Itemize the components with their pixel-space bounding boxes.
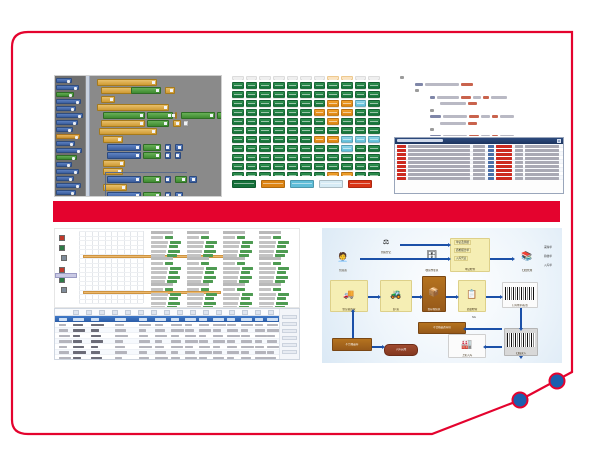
status-grid-cell[interactable] [368, 82, 380, 89]
status-grid-cell[interactable] [368, 100, 380, 107]
status-grid-cell[interactable] [287, 172, 299, 176]
status-grid-cell[interactable] [246, 91, 258, 98]
status-grid-cell[interactable] [232, 136, 244, 143]
status-grid-cell[interactable] [314, 154, 326, 161]
status-grid-column-header [287, 76, 299, 80]
status-grid-cell[interactable] [355, 154, 367, 161]
workspace-block[interactable] [103, 112, 145, 119]
status-grid-cell[interactable] [314, 172, 326, 176]
palette-block[interactable] [56, 85, 79, 90]
status-grid-cell[interactable] [232, 109, 244, 116]
status-grid-cell[interactable] [287, 118, 299, 125]
workspace-block[interactable] [107, 152, 141, 159]
status-grid-cell[interactable] [287, 91, 299, 98]
flow-arrow [486, 346, 502, 348]
inbound-truck-glyph: 🚚 [343, 290, 354, 299]
status-grid-cell[interactable] [246, 109, 258, 116]
table-cell [115, 351, 127, 354]
workspace-block[interactable] [165, 144, 171, 151]
status-grid-cell[interactable] [300, 136, 312, 143]
info-field-label [187, 245, 203, 248]
code-line [388, 96, 563, 99]
status-grid-cell[interactable] [327, 109, 339, 116]
toolbar-icon[interactable] [164, 310, 170, 315]
status-grid-cell[interactable] [259, 154, 271, 161]
status-grid-cell[interactable] [287, 82, 299, 89]
palette-block[interactable] [56, 141, 75, 146]
scan-in-icon [505, 329, 537, 352]
workspace-block[interactable] [147, 112, 173, 119]
status-grid-cell[interactable] [259, 109, 271, 116]
info-cluster [187, 257, 219, 285]
palette-block[interactable] [56, 120, 78, 125]
workspace-block[interactable] [175, 144, 183, 151]
table-column-header[interactable] [267, 318, 278, 321]
toolbar-icon[interactable] [86, 310, 92, 315]
table-cell [213, 351, 222, 354]
status-grid-cell[interactable] [300, 109, 312, 116]
palette-block[interactable] [56, 155, 77, 160]
info-field-value [241, 271, 250, 274]
status-grid-cell[interactable] [368, 136, 380, 143]
info-field-label [223, 250, 238, 253]
status-grid-cell[interactable] [368, 145, 380, 152]
workspace-block[interactable] [175, 112, 177, 119]
info-field-label [151, 297, 167, 300]
status-grid-cell[interactable] [314, 100, 326, 107]
block-plug-icon [75, 136, 78, 139]
palette-block[interactable] [56, 99, 81, 104]
status-grid-cell[interactable] [368, 127, 380, 134]
status-grid-cell[interactable] [368, 163, 380, 170]
status-grid-cell[interactable] [327, 127, 339, 134]
palette-block[interactable] [56, 113, 83, 118]
status-grid-cell[interactable] [327, 136, 339, 143]
status-grid-cell[interactable] [300, 145, 312, 152]
info-cluster-row [223, 250, 255, 253]
status-grid-cell[interactable] [273, 100, 285, 107]
table-cell [255, 346, 264, 349]
status-grid-cell[interactable] [273, 109, 285, 116]
status-grid-cell[interactable] [246, 100, 258, 107]
workspace-block[interactable] [147, 120, 169, 127]
info-field-label [223, 276, 238, 279]
gantt-row-headers [55, 229, 77, 307]
log-row[interactable] [395, 176, 563, 180]
status-grid-cell[interactable] [273, 154, 285, 161]
table-column-header[interactable] [91, 318, 99, 321]
table-cell [199, 340, 208, 343]
workspace-block[interactable] [173, 120, 181, 127]
staging-area-glyph: 📦 [428, 288, 439, 297]
status-grid-cell[interactable] [314, 109, 326, 116]
gantt-row-marker[interactable] [59, 245, 65, 251]
table-cell [227, 335, 240, 338]
status-grid-cell[interactable] [300, 154, 312, 161]
status-grid-cell[interactable] [259, 127, 271, 134]
toolbar-icon[interactable] [255, 310, 261, 315]
status-grid-cell[interactable] [246, 154, 258, 161]
table-column-header[interactable] [185, 318, 196, 321]
toolbar-icon[interactable] [242, 310, 248, 315]
info-cluster-row [223, 302, 255, 305]
status-grid-cell[interactable] [246, 118, 258, 125]
info-field-label [259, 241, 276, 244]
table-cell [267, 340, 277, 343]
status-grid-cell[interactable] [314, 118, 326, 125]
status-grid-legend [232, 180, 382, 188]
table-column-header[interactable] [213, 318, 224, 321]
workspace-block[interactable] [107, 144, 141, 151]
status-grid-cell[interactable] [341, 136, 353, 143]
table-cell [227, 324, 236, 327]
status-grid-cell[interactable] [368, 118, 380, 125]
info-field-label [151, 262, 163, 265]
status-matrix-panel[interactable] [232, 76, 380, 176]
status-grid-cell[interactable] [341, 91, 353, 98]
status-grid-cell[interactable] [246, 127, 258, 134]
info-field-label [223, 245, 239, 248]
workspace-block[interactable] [175, 152, 181, 159]
table-side-buttons[interactable] [279, 309, 299, 359]
info-field-value [201, 262, 209, 265]
table-column-header[interactable] [115, 318, 126, 321]
blocks-palette-drawer[interactable] [55, 76, 85, 196]
status-grid-cell[interactable] [314, 163, 326, 170]
workspace-block[interactable] [131, 87, 161, 94]
workspace-block[interactable] [97, 104, 169, 111]
status-grid-cell[interactable] [368, 109, 380, 116]
workspace-block[interactable] [101, 120, 145, 127]
status-grid-cell[interactable] [355, 100, 367, 107]
workspace-block[interactable] [183, 120, 189, 127]
table-column-header[interactable] [155, 318, 166, 321]
info-field-label [151, 250, 166, 253]
schedule-gantt-panel[interactable] [54, 228, 300, 308]
status-grid-cell[interactable] [259, 136, 271, 143]
table-cell [213, 340, 225, 343]
status-grid-cell[interactable] [273, 118, 285, 125]
info-cluster-row [223, 241, 255, 244]
info-cluster-row [187, 276, 219, 279]
table-column-header[interactable] [139, 318, 147, 321]
info-field-label [259, 236, 271, 239]
status-grid-cell[interactable] [246, 136, 258, 143]
status-grid-cell[interactable] [327, 82, 339, 89]
status-grid-cell[interactable] [232, 118, 244, 125]
status-grid-cell[interactable] [355, 163, 367, 170]
table-body[interactable] [55, 322, 299, 360]
table-action-button[interactable] [282, 322, 297, 326]
toolbar-icon[interactable] [190, 310, 196, 315]
side-tag: 入库单 [544, 264, 552, 267]
status-grid-cell[interactable] [327, 154, 339, 161]
status-grid-cell[interactable] [273, 136, 285, 143]
status-grid-cell[interactable] [327, 91, 339, 98]
status-grid-cell[interactable] [300, 82, 312, 89]
palette-block[interactable] [56, 134, 80, 139]
info-field-value [201, 236, 209, 239]
blocks-workspace-canvas[interactable] [91, 76, 221, 196]
code-token [461, 96, 471, 99]
status-grid-cell[interactable] [300, 163, 312, 170]
table-row[interactable] [55, 355, 299, 360]
flow-arrow [490, 258, 512, 260]
toolbar-icon[interactable] [229, 310, 235, 315]
status-grid-cell[interactable] [287, 163, 299, 170]
status-grid-cell[interactable] [368, 91, 380, 98]
status-grid-cell[interactable] [232, 154, 244, 161]
info-field-value [165, 288, 173, 291]
info-cluster-row [151, 241, 183, 244]
log-output-panel[interactable] [394, 137, 564, 194]
status-grid-cell[interactable] [287, 100, 299, 107]
toolbar-icon[interactable] [177, 310, 183, 315]
workspace-block[interactable] [217, 112, 222, 119]
flow-arrow [400, 244, 448, 246]
status-grid-cell[interactable] [273, 145, 285, 152]
status-grid-cell[interactable] [300, 127, 312, 134]
status-grid-cell[interactable] [327, 172, 339, 176]
palette-block[interactable] [56, 78, 72, 83]
status-grid-cell[interactable] [246, 172, 258, 176]
status-grid-cell[interactable] [232, 172, 244, 176]
blocks-editor-panel[interactable] [54, 75, 222, 197]
status-grid-cell[interactable] [355, 109, 367, 116]
flow-node-gate-scale: ⚖到货登记 [372, 234, 400, 254]
status-grid-cell[interactable] [355, 91, 367, 98]
status-grid-cell[interactable] [314, 145, 326, 152]
table-action-button[interactable] [282, 343, 297, 347]
status-grid-cell[interactable] [287, 127, 299, 134]
log-token [496, 177, 512, 180]
palette-block[interactable] [56, 176, 74, 181]
block-socket-icon [140, 114, 143, 117]
status-grid-cell[interactable] [287, 145, 299, 152]
workspace-block[interactable] [181, 112, 215, 119]
status-grid-cell[interactable] [341, 145, 353, 152]
status-grid-cell[interactable] [232, 82, 244, 89]
status-grid-cell[interactable] [287, 109, 299, 116]
status-grid-cell[interactable] [341, 163, 353, 170]
palette-block[interactable] [56, 92, 74, 97]
toolbar-icon[interactable] [203, 310, 209, 315]
table-cell [59, 335, 70, 338]
table-column-header[interactable] [255, 318, 263, 321]
workspace-block[interactable] [97, 79, 157, 86]
toolbar-icon[interactable] [99, 310, 105, 315]
flow-node-barcode-print: 打印条码标签 [502, 282, 538, 308]
gantt-row-marker[interactable] [61, 255, 67, 261]
status-grid-cell[interactable] [341, 109, 353, 116]
info-field-label [151, 293, 168, 296]
status-grid-cell[interactable] [259, 172, 271, 176]
status-grid-cell[interactable] [246, 82, 258, 89]
status-grid-cell[interactable] [300, 91, 312, 98]
flow-arrowhead [483, 345, 486, 349]
workspace-block[interactable] [103, 160, 125, 167]
log-close-icon[interactable] [557, 139, 561, 143]
status-grid-cell[interactable] [273, 127, 285, 134]
toolbar-icon[interactable] [125, 310, 131, 315]
toolbar-icon[interactable] [268, 310, 274, 315]
status-grid-cell[interactable] [273, 172, 285, 176]
palette-block[interactable] [56, 127, 73, 132]
info-field-label [187, 241, 204, 244]
status-grid-cell[interactable] [341, 127, 353, 134]
table-column-header[interactable] [199, 318, 207, 321]
status-grid-cell[interactable] [341, 82, 353, 89]
table-column-header[interactable] [59, 318, 67, 321]
quality-check-glyph: 📋 [466, 290, 477, 299]
workspace-block[interactable] [101, 96, 115, 103]
info-field-value [170, 293, 181, 296]
status-grid-cell[interactable] [232, 127, 244, 134]
info-field-value [201, 288, 209, 291]
status-grid-cell[interactable] [341, 154, 353, 161]
code-editor-panel[interactable] [388, 76, 563, 136]
reception-desk-icon: 🗄 [418, 242, 446, 269]
table-action-button[interactable] [282, 336, 297, 340]
code-line [388, 128, 563, 131]
status-grid-cell[interactable] [355, 82, 367, 89]
status-grid-cell[interactable] [314, 82, 326, 89]
status-grid-cell[interactable] [314, 136, 326, 143]
toolbar-icon[interactable] [138, 310, 144, 315]
gantt-row-marker[interactable] [61, 287, 67, 293]
info-cluster-row [259, 288, 291, 291]
table-column-header[interactable] [227, 318, 235, 321]
status-grid-cell[interactable] [355, 127, 367, 134]
toolbar-icon[interactable] [151, 310, 157, 315]
status-grid-cell[interactable] [232, 163, 244, 170]
palette-block[interactable] [56, 169, 79, 174]
workspace-block[interactable] [189, 176, 197, 183]
toolbar-icon[interactable] [73, 310, 79, 315]
table-cell [91, 335, 101, 338]
status-grid-cell[interactable] [259, 100, 271, 107]
log-row-list[interactable] [395, 144, 563, 180]
status-grid-cell[interactable] [246, 163, 258, 170]
doc-tag: 质检报告单 [454, 248, 471, 253]
status-grid-cell[interactable] [273, 163, 285, 170]
table-cell [185, 324, 192, 327]
gantt-label-chip[interactable] [55, 273, 77, 278]
status-grid-cell[interactable] [355, 136, 367, 143]
status-grid-cell[interactable] [327, 100, 339, 107]
workspace-block[interactable] [99, 128, 157, 135]
status-grid-cell[interactable] [259, 145, 271, 152]
status-grid-cell[interactable] [232, 145, 244, 152]
log-token [525, 177, 559, 180]
quality-check-caption: 质量检验 [459, 308, 485, 311]
toolbar-icon[interactable] [112, 310, 118, 315]
gantt-row-marker[interactable] [59, 235, 65, 241]
status-grid-cell[interactable] [287, 136, 299, 143]
flow-node-supplier-person: 🧑‍💼供应商 [328, 246, 358, 272]
status-grid-cell[interactable] [341, 172, 353, 176]
status-grid-cells[interactable] [232, 76, 380, 176]
info-field-label [151, 267, 168, 270]
status-grid-cell[interactable] [368, 154, 380, 161]
table-cell [171, 340, 181, 343]
table-column-header[interactable] [171, 318, 179, 321]
status-grid-cell[interactable] [232, 91, 244, 98]
status-grid-cell[interactable] [300, 100, 312, 107]
status-grid-cell[interactable] [273, 82, 285, 89]
status-grid-cell[interactable] [327, 163, 339, 170]
status-grid-cell[interactable] [259, 91, 271, 98]
flow-arrowhead [351, 309, 355, 312]
status-grid-cell[interactable] [327, 118, 339, 125]
status-grid-cell[interactable] [355, 145, 367, 152]
workspace-block[interactable] [103, 136, 123, 143]
workspace-block[interactable] [143, 144, 161, 151]
status-grid-cell[interactable] [355, 118, 367, 125]
table-action-button[interactable] [282, 350, 297, 354]
table-cell [73, 340, 82, 343]
status-grid-cell[interactable] [232, 100, 244, 107]
status-grid-cell[interactable] [300, 118, 312, 125]
status-grid-cell[interactable] [314, 91, 326, 98]
info-field-value [169, 245, 178, 248]
status-grid-cell[interactable] [300, 172, 312, 176]
workspace-block[interactable] [143, 152, 161, 159]
table-action-button[interactable] [282, 329, 297, 333]
info-cluster-row [151, 288, 183, 291]
status-grid-cell[interactable] [273, 91, 285, 98]
flow-node-reject-zone: 不合格品暂存区 [418, 322, 466, 334]
palette-block[interactable] [56, 183, 81, 188]
table-toolbar[interactable] [55, 309, 299, 316]
table-column-header[interactable] [73, 318, 84, 321]
code-token [430, 96, 435, 99]
status-grid-cell[interactable] [287, 154, 299, 161]
info-cluster-row [187, 302, 219, 305]
table-cell [139, 335, 148, 338]
info-field-value [277, 245, 286, 248]
records-table-panel[interactable] [54, 308, 300, 360]
table-action-button[interactable] [282, 315, 297, 319]
status-grid-cell[interactable] [314, 127, 326, 134]
table-column-header[interactable] [241, 318, 252, 321]
palette-block[interactable] [56, 148, 82, 153]
status-grid-cell[interactable] [341, 100, 353, 107]
toolbar-icon[interactable] [216, 310, 222, 315]
table-cell [139, 357, 149, 360]
code-line [388, 83, 563, 86]
status-grid-cell[interactable] [259, 82, 271, 89]
workspace-block[interactable] [165, 152, 171, 159]
table-cell [185, 357, 197, 360]
status-grid-cell[interactable] [341, 118, 353, 125]
workspace-block[interactable] [165, 87, 175, 94]
palette-block[interactable] [56, 162, 72, 167]
info-field-value [278, 241, 289, 244]
status-grid-cell[interactable] [246, 145, 258, 152]
status-grid-cell[interactable] [259, 118, 271, 125]
status-grid-cell[interactable] [327, 145, 339, 152]
info-field-value [242, 241, 253, 244]
palette-block[interactable] [56, 106, 76, 111]
status-grid-cell[interactable] [259, 163, 271, 170]
legend-swatch-5 [348, 180, 372, 188]
status-grid-cell[interactable] [355, 172, 367, 176]
status-grid-cell[interactable] [368, 172, 380, 176]
palette-block[interactable] [56, 190, 76, 195]
info-cluster-row [223, 271, 255, 274]
info-field-value [206, 293, 217, 296]
